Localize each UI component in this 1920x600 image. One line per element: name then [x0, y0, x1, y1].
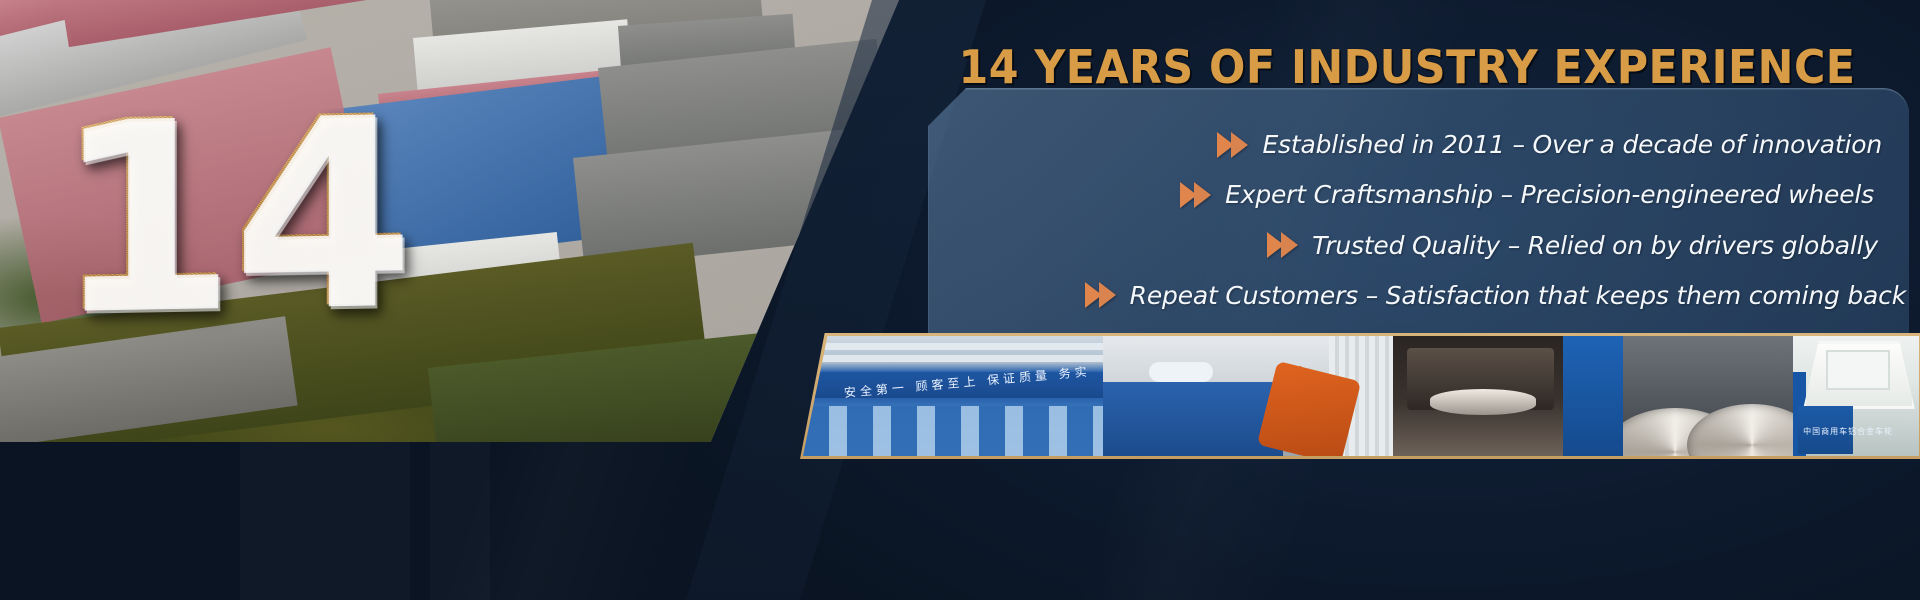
- list-item-label: Expert Craftsmanship – Precision-enginee…: [1225, 180, 1874, 209]
- factory-floor-photo: 安全第一 顾客至上 保证质量 务实: [803, 336, 1103, 456]
- cnc-machining-photo: [1393, 336, 1623, 456]
- bullets-list: Established in 2011 – Over a decade of i…: [928, 130, 1908, 310]
- robot-casting-machine-photo: [1103, 336, 1393, 456]
- factory-photo-strip-inner: 安全第一 顾客至上 保证质量 务实: [803, 336, 1919, 456]
- factory-photo-strip: 安全第一 顾客至上 保证质量 务实: [800, 333, 1920, 459]
- list-item-label: Established in 2011 – Over a decade of i…: [1262, 130, 1882, 159]
- list-item: Established in 2011 – Over a decade of i…: [928, 130, 1908, 159]
- double-chevron-right-icon: [1217, 132, 1248, 158]
- page-title: 14 YEARS OF INDUSTRY EXPERIENCE: [958, 40, 1856, 94]
- showroom-office-photo: 中国商用车铝合金车轮: [1793, 336, 1919, 456]
- double-chevron-right-icon: [1180, 182, 1211, 208]
- list-item-label: Repeat Customers – Satisfaction that kee…: [1130, 281, 1906, 310]
- list-item: Trusted Quality – Relied on by drivers g…: [928, 231, 1908, 260]
- double-chevron-right-icon: [1085, 282, 1116, 308]
- list-item: Repeat Customers – Satisfaction that kee…: [928, 281, 1908, 310]
- years-number: 14: [52, 89, 409, 344]
- showroom-board-caption: 中国商用车铝合金车轮: [1803, 426, 1893, 437]
- company-experience-banner: 14 14 YEARS OF INDUSTRY EXPERIENCE Estab…: [0, 0, 1920, 600]
- list-item: Expert Craftsmanship – Precision-enginee…: [928, 180, 1908, 209]
- polished-wheels-photo: [1623, 336, 1793, 456]
- double-chevron-right-icon: [1267, 232, 1298, 258]
- list-item-label: Trusted Quality – Relied on by drivers g…: [1312, 231, 1878, 260]
